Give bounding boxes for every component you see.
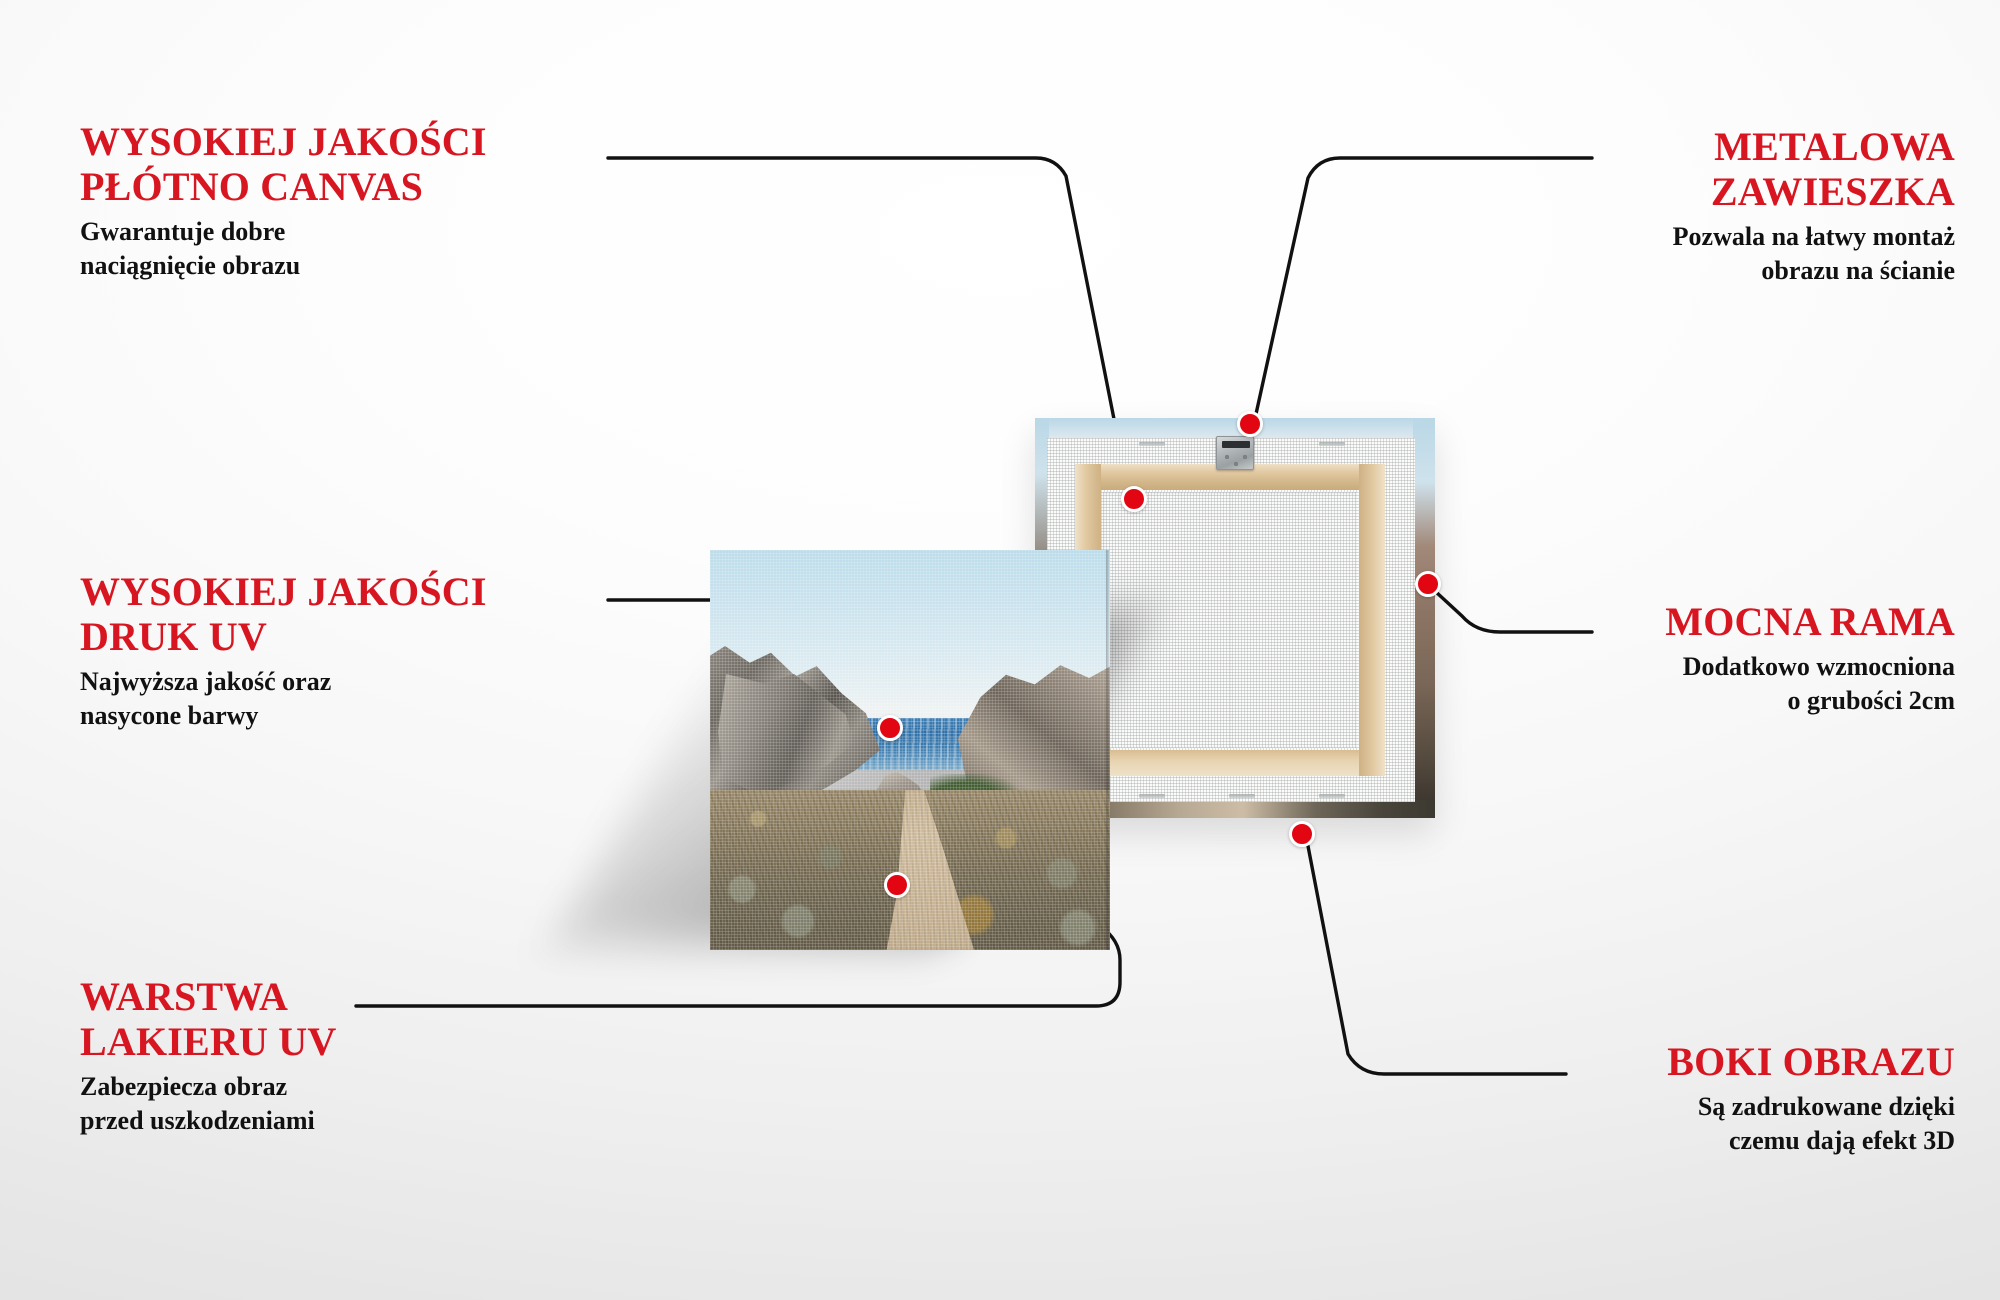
hotspot-dot-hanger[interactable]	[1237, 411, 1263, 437]
callout-sides-desc: Są zadrukowane dzięki czemu dają efekt 3…	[1395, 1090, 1955, 1159]
callout-print: WYSOKIEJ JAKOŚCI DRUK UV Najwyższa jakoś…	[80, 570, 640, 734]
hotspot-dot-varnish[interactable]	[884, 872, 910, 898]
callout-hanger-title: METALOWA ZAWIESZKA	[1395, 125, 1955, 215]
hotspot-dot-print[interactable]	[877, 715, 903, 741]
hanger-screw	[1243, 455, 1247, 459]
canvas-front-right-edge	[1106, 550, 1110, 950]
canvas-front-image	[710, 550, 1110, 950]
stretcher-bar-right	[1359, 464, 1385, 776]
canvas-seam	[1230, 492, 1231, 748]
print-canvas-weave	[710, 550, 1110, 950]
hanger-slot	[1222, 441, 1250, 448]
callout-frame: MOCNA RAMA Dodatkowo wzmocniona o gruboś…	[1395, 600, 1955, 719]
callout-varnish: WARSTWA LAKIERU UV Zabezpiecza obraz prz…	[80, 975, 640, 1139]
callout-canvas-desc: Gwarantuje dobre naciągnięcie obrazu	[80, 215, 640, 284]
hanger-screw	[1234, 462, 1238, 466]
callout-print-desc: Najwyższa jakość oraz nasycone barwy	[80, 665, 640, 734]
callout-print-title: WYSOKIEJ JAKOŚCI DRUK UV	[80, 570, 640, 660]
hotspot-dot-sides[interactable]	[1289, 821, 1315, 847]
hotspot-dot-canvas[interactable]	[1121, 486, 1147, 512]
staple	[1319, 794, 1345, 798]
callout-frame-desc: Dodatkowo wzmocniona o grubości 2cm	[1395, 650, 1955, 719]
callout-sides-title: BOKI OBRAZU	[1395, 1040, 1955, 1085]
staple	[1229, 794, 1255, 798]
callout-hanger-desc: Pozwala na łatwy montaż obrazu na ściani…	[1395, 220, 1955, 289]
hanger-screw	[1225, 455, 1229, 459]
metal-hanger-icon	[1216, 436, 1254, 470]
staple	[1139, 794, 1165, 798]
staple	[1139, 442, 1165, 446]
hotspot-dot-frame[interactable]	[1415, 571, 1441, 597]
staple	[1319, 442, 1345, 446]
callout-frame-title: MOCNA RAMA	[1395, 600, 1955, 645]
callout-hanger: METALOWA ZAWIESZKA Pozwala na łatwy mont…	[1395, 125, 1955, 289]
callout-canvas: WYSOKIEJ JAKOŚCI PŁÓTNO CANVAS Gwarantuj…	[80, 120, 640, 284]
callout-varnish-desc: Zabezpiecza obraz przed uszkodzeniami	[80, 1070, 640, 1139]
callout-canvas-title: WYSOKIEJ JAKOŚCI PŁÓTNO CANVAS	[80, 120, 640, 210]
infographic-canvas: WYSOKIEJ JAKOŚCI PŁÓTNO CANVAS Gwarantuj…	[0, 0, 2000, 1300]
stretcher-bar-bottom	[1075, 750, 1385, 776]
callout-sides: BOKI OBRAZU Są zadrukowane dzięki czemu …	[1395, 1040, 1955, 1159]
printed-photo	[710, 550, 1110, 950]
callout-varnish-title: WARSTWA LAKIERU UV	[80, 975, 640, 1065]
